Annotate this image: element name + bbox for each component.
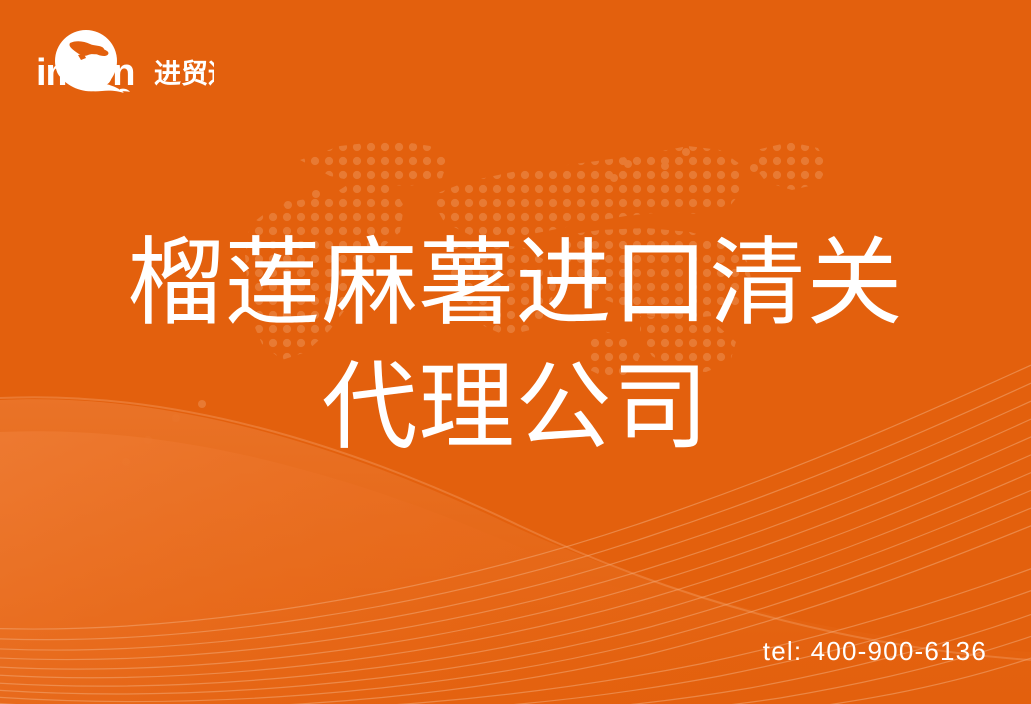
logo-chinese-name: 进贸通 [154,59,214,89]
page-title: 榴莲麻薯进口清关 代理公司 [0,222,1031,470]
contact-phone[interactable]: tel: 400-900-6136 [763,636,987,667]
page-title-line-2: 代理公司 [0,346,1031,470]
promo-banner: imton 进贸通 ® 榴莲麻薯进口清关 代理公司 tel: 400-900-6… [0,0,1031,704]
imton-logo[interactable]: imton 进贸通 ® [34,27,214,101]
logo-wordmark: imton [36,52,134,94]
page-title-line-1: 榴莲麻薯进口清关 [0,222,1031,346]
